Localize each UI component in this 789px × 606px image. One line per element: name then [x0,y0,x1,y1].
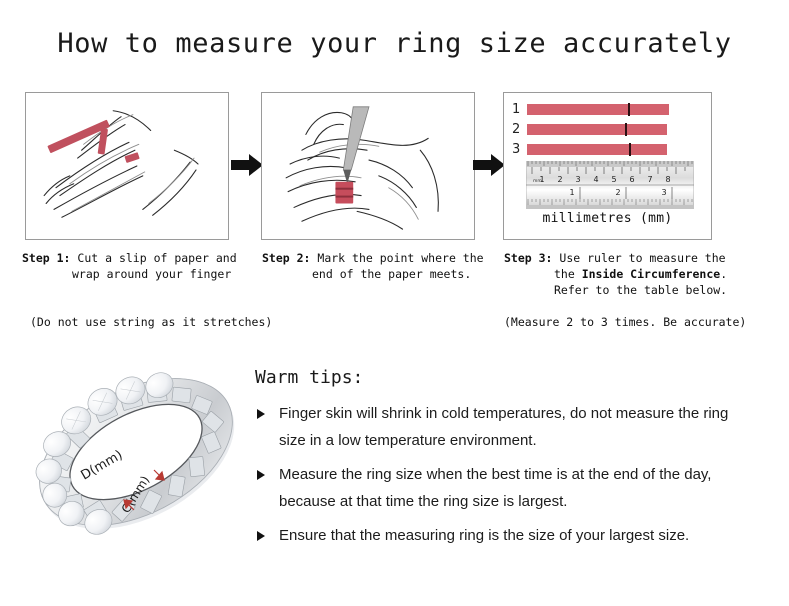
strip-mark-3 [629,143,631,156]
svg-text:4: 4 [593,175,598,184]
arrow-step2-to-step3 [473,152,507,178]
strip-label-3: 3 [512,142,527,157]
svg-text:mm: mm [533,179,542,184]
ruler-unit-caption: millimetres (mm) [504,211,711,226]
strip-label-1: 1 [512,102,527,117]
paper-strip-2 [527,124,667,135]
svg-text:5: 5 [611,175,616,184]
list-item: Ensure that the measuring ring is the si… [255,522,755,549]
triangle-bullet-icon [257,470,265,480]
paper-strip-3 [527,144,667,155]
paper-band-red [335,182,353,204]
strip-label-2: 2 [512,122,527,137]
svg-text:1: 1 [569,188,574,197]
svg-text:2: 2 [615,188,620,197]
warm-tips-heading: Warm tips: [255,367,363,388]
paper-strip-1 [527,104,669,115]
step-1-lead: Step 1: [22,251,70,265]
step-2-line2: end of the paper meets. [262,266,492,282]
arrow-step1-to-step2 [231,152,265,178]
step-2-panel [261,92,475,240]
step-2-lead: Step 2: [262,251,310,265]
inside-circumference-emphasis: Inside Circumference [582,267,720,281]
svg-text:3: 3 [661,188,666,197]
step-3-line1: Use ruler to measure the [559,251,725,265]
step-1-panel [25,92,229,240]
measured-strip-row-2: 2 [512,123,667,136]
svg-text:2: 2 [557,175,562,184]
step-2-caption: Step 2: Mark the point where the end of … [262,250,492,282]
step-1-line1: Cut a slip of paper and [77,251,236,265]
warm-tips-list: Finger skin will shrink in cold temperat… [255,400,755,556]
ring-photo-with-measurements: D(mm) C(mm) [22,352,250,552]
tip-text: Measure the ring size when the best time… [279,466,711,510]
paper-slip-red [47,120,139,163]
ring-size-guide-page: How to measure your ring size accurately [0,0,789,606]
step-3-lead: Step 3: [504,251,552,265]
step-3-line2-suffix: . [720,267,727,281]
step-1-caption: Step 1: Cut a slip of paper and wrap aro… [22,250,252,282]
step-2-line1: Mark the point where the [317,251,483,265]
step-3-line2: the Inside Circumference. [504,266,749,282]
svg-text:6: 6 [629,175,634,184]
hand-with-paper-slip-illustration [26,93,228,239]
svg-text:8: 8 [665,175,670,184]
step-3-line2-prefix: the [554,267,582,281]
tip-text: Finger skin will shrink in cold temperat… [279,405,728,449]
strip-mark-2 [625,123,627,136]
step-1-line2: wrap around your finger [22,266,252,282]
list-item: Finger skin will shrink in cold temperat… [255,400,755,454]
measured-strip-row-1: 1 [512,103,669,116]
pen-icon [343,107,369,184]
triangle-bullet-icon [257,531,265,541]
step-3-caption: Step 3: Use ruler to measure the the Ins… [504,250,749,298]
measured-strip-row-3: 3 [512,143,667,156]
page-title: How to measure your ring size accurately [0,28,789,59]
step-3-line3: Refer to the table below. [504,282,749,298]
tip-text: Ensure that the measuring ring is the si… [279,527,689,544]
ruler-illustration: 1 2 3 4 5 6 7 8 mm 1 2 3 [526,161,694,209]
step-3-note: (Measure 2 to 3 times. Be accurate) [504,315,746,329]
strip-mark-1 [628,103,630,116]
svg-text:3: 3 [575,175,580,184]
hand-marking-paper-illustration [262,93,474,239]
svg-text:7: 7 [647,175,652,184]
triangle-bullet-icon [257,409,265,419]
list-item: Measure the ring size when the best time… [255,461,755,515]
step-3-panel: 1 2 3 [503,92,712,240]
step-1-note: (Do not use string as it stretches) [30,315,272,329]
